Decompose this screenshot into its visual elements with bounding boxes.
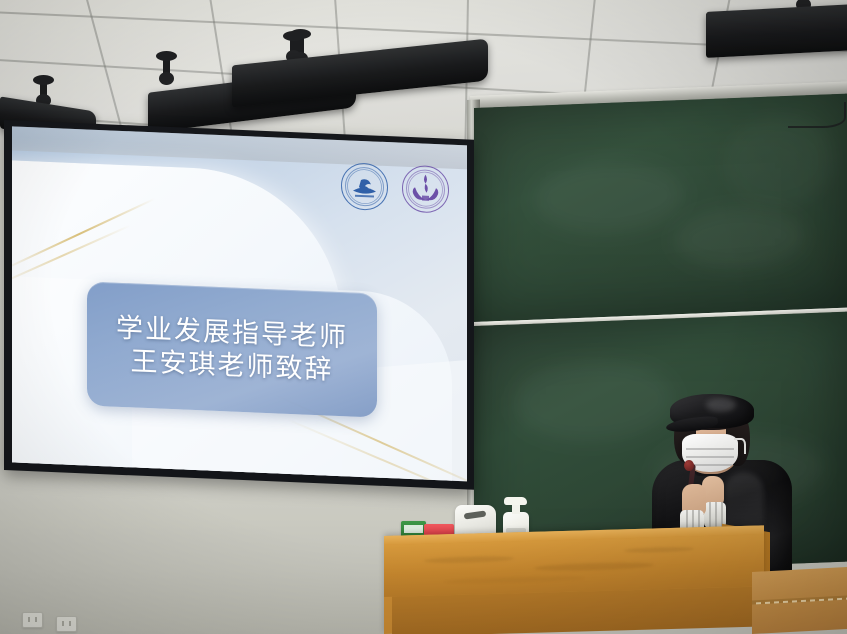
cap-highlight	[706, 398, 736, 412]
wall-outlet-1	[22, 612, 43, 628]
slide-caption-line-2: 王安琪老师致辞	[131, 346, 334, 386]
university-seal-blue-icon	[341, 162, 388, 211]
wall-lower-section	[0, 470, 430, 634]
wall-outlet-2	[56, 616, 77, 632]
organization-seal-purple-icon	[402, 165, 449, 214]
wooden-podium	[384, 525, 764, 634]
slide-surface: 学业发展指导老师 王安琪老师致辞	[12, 126, 467, 481]
ceiling-cable	[788, 102, 846, 128]
microphone-tip	[684, 460, 694, 471]
sanitizer-pump	[504, 497, 527, 505]
mask-ear-strap	[734, 438, 746, 454]
slide-logos	[341, 162, 449, 214]
slide-caption-panel: 学业发展指导老师 王安琪老师致辞	[87, 281, 377, 417]
sanitizer-neck	[512, 505, 520, 514]
projection-screen: 学业发展指导老师 王安琪老师致辞	[4, 120, 474, 490]
classroom-photo: 学业发展指导老师 王安琪老师致辞	[0, 0, 847, 634]
